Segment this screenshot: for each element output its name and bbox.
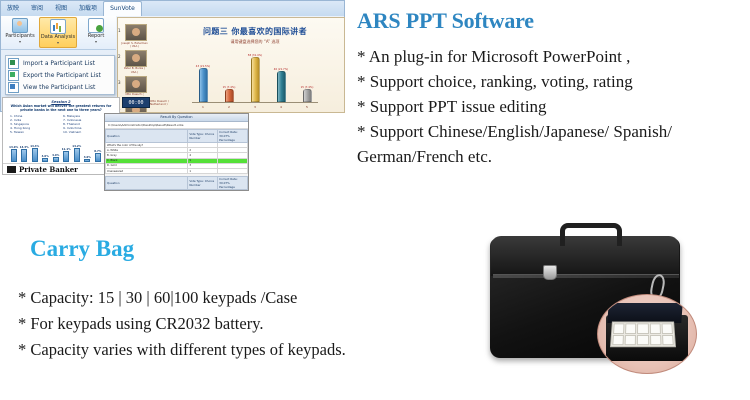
carry-bag-photo (455, 212, 745, 397)
bar (11, 149, 17, 162)
product-feature-sheet: 放映 审阅 视图 加载项 SunVote Participants ▾ Data… (0, 0, 750, 400)
results-spreadsheet-window: Result By Question C:\Users\Administrato… (104, 113, 249, 191)
pb-heading-block: Session 2 Which Asian market will delive… (3, 100, 119, 112)
bar-column: 15 (7.4%) (221, 86, 237, 103)
tray-cell (613, 323, 625, 333)
bar-series: 43 (21.5%) 15 (7.4%) 58 (31.4%) 40 (190, 48, 320, 102)
option-column-left: 1. China 2. India 3. Singapore 4. Hong K… (10, 114, 59, 134)
bullet-item: * Capacity: 15 | 30 | 60|100 keypads /Ca… (18, 285, 438, 311)
bag-zipper-line (493, 274, 679, 278)
candidate-photo (125, 50, 147, 67)
tray-cell (650, 334, 662, 345)
menu-item-export-participant-list[interactable]: Export the Participant List (6, 69, 114, 81)
column-header-correct-rate: Correct Rate: 30.07% Percentage (218, 177, 248, 190)
menu-item-import-participant-list[interactable]: Import a Participant List (6, 57, 114, 69)
bar-data-label: 8.7% (93, 150, 102, 153)
bullet-item: * Support Chinese/English/Japanese/ Span… (357, 119, 747, 169)
carry-bag-bullets: * Capacity: 15 | 30 | 60|100 keypads /Ca… (18, 285, 438, 363)
bar-column: 4.0% (41, 155, 50, 162)
tick-label: 2 (221, 105, 237, 109)
tick-label: 5 (299, 105, 315, 109)
candidate-name: Peter B. Burke ( USA ) (121, 67, 148, 73)
column-header-vote-type: Vote Type: Choice Number (188, 130, 218, 143)
private-banker-results-slide: Session 2 Which Asian market will delive… (2, 97, 120, 175)
bar-column: 43 (21.5%) (195, 65, 211, 103)
bar-column: 11.1% (62, 148, 71, 162)
bar-data-label: 3.0% (83, 156, 92, 159)
bullet-item: * An plug-in for Microsoft PowerPoint , (357, 44, 747, 69)
tray-cell (661, 323, 673, 333)
bar-column: 14.4% (30, 145, 39, 162)
bar (251, 57, 260, 102)
bar-data-label: 4.0% (41, 155, 50, 158)
bar-column: 58 (31.4%) (247, 54, 263, 103)
tray-cell (649, 323, 660, 333)
ars-ppt-software-bullets: * An plug-in for Microsoft PowerPoint , … (357, 44, 747, 169)
candidate-number: 2 (118, 54, 121, 59)
tray-cell (612, 334, 624, 345)
bar-data-label: 15 (7.4%) (299, 86, 315, 89)
column-header-vote-type: Vote Type: Choice Number (188, 177, 218, 190)
menu-item-label: Import a Participant List (23, 60, 95, 67)
window-title: Result By Question (105, 114, 248, 122)
bar-data-label: 14.4% (30, 145, 39, 148)
ribbon-button-group: Participants ▾ Data Analysis ▾ Report ▾ (1, 16, 116, 50)
bag-interior-inset (597, 294, 697, 374)
tick-label: 4 (273, 105, 289, 109)
slide-title-text: 问题三 你最喜欢的国际讲者 (180, 26, 330, 37)
bar (95, 153, 101, 162)
bar (53, 157, 59, 162)
question-heading: What's the size of the sun? (106, 190, 188, 191)
candidate-item: 2 Peter B. Burke ( USA ) (121, 50, 148, 74)
bag-handle (560, 223, 622, 246)
bar-data-label: 13.3% (20, 146, 29, 149)
tray-cell (625, 334, 637, 345)
report-button[interactable]: Report ▾ (77, 17, 115, 48)
speaker-vote-bar-chart: 43 (21.5%) 15 (7.4%) 58 (31.4%) 40 (190, 47, 320, 109)
bar (277, 71, 286, 102)
candidate-name: Otto Dassch ( Netherland ) (150, 100, 180, 106)
ribbon-tab-review[interactable]: 审阅 (25, 2, 49, 16)
carry-bag-heading: Carry Bag (30, 236, 134, 262)
tray-cell (637, 323, 648, 333)
table-row: Unanswered 1 (106, 168, 248, 173)
bar-column: 3.0% (83, 156, 92, 162)
participants-dropdown-menu[interactable]: Import a Participant List Export the Par… (5, 55, 115, 95)
private-banker-bar-chart: 13.0% 13.3% 14.4% 4.0% 4.9% (9, 140, 113, 162)
bar (21, 149, 27, 162)
speaker-vote-slide: 问题三 你最喜欢的国际讲者 请用键盘选择您的 “A” 选项 1 Joseph S… (117, 17, 345, 113)
bar (63, 151, 69, 162)
inset-bag-lid (607, 303, 682, 323)
column-header-correct-rate: Correct Rate: 30.07% Percentage (218, 130, 248, 143)
bar (32, 148, 38, 162)
menu-item-view-participant-list[interactable]: View the Participant List (6, 81, 114, 93)
tray-cell (637, 334, 648, 345)
tray-cell (662, 334, 674, 345)
column-header-question: Question (106, 130, 188, 143)
bar (225, 89, 234, 102)
menu-item-label: View the Participant List (23, 84, 95, 91)
bar-data-label: 58 (31.4%) (247, 54, 263, 57)
report-icon (88, 18, 104, 33)
bar-column: 40 (21.7%) (273, 68, 289, 103)
view-list-icon (8, 82, 19, 93)
keypad-tray (610, 322, 676, 348)
private-banker-footer: Private Banker (3, 163, 119, 174)
bar-column: 15 (7.4%) (299, 86, 315, 103)
bullet-item: * Support PPT issue editing (357, 94, 747, 119)
bar-column: 14.2% (72, 145, 81, 162)
tick-label: 3 (247, 105, 263, 109)
menu-item-label: Export the Participant List (23, 72, 101, 79)
column-header-question: Question (106, 177, 188, 190)
bar-data-label: 13.0% (9, 146, 18, 149)
bar-column: 13.3% (20, 146, 29, 162)
bar-data-label: 40 (21.7%) (273, 68, 289, 71)
bar-data-label: 43 (21.5%) (195, 65, 211, 68)
ribbon-tab-view[interactable]: 视图 (49, 2, 73, 16)
slide-subtitle-text: 请用键盘选择您的 “A” 选项 (180, 39, 330, 45)
bar (74, 148, 80, 162)
cell (188, 190, 218, 191)
results-table-1: Question Vote Type: Choice Number Correc… (105, 129, 248, 174)
chart-tick-labels: 1 2 3 4 5 (190, 105, 320, 109)
powerpoint-ribbon-window: 放映 审阅 视图 加载项 SunVote Participants ▾ Data… (0, 0, 345, 112)
ribbon-tab-bar[interactable]: 放映 审阅 视图 加载项 SunVote (1, 1, 344, 16)
brand-name: Private Banker (19, 165, 78, 174)
ribbon-tab-slideshow[interactable]: 放映 (1, 2, 25, 16)
tick-label: 1 (195, 105, 211, 109)
bar (199, 68, 208, 102)
private-banker-logo-icon (7, 166, 16, 173)
people-icon (12, 18, 28, 33)
option-label: Unanswered (106, 168, 188, 173)
bullet-item: * Support choice, ranking, voting, ratin… (357, 69, 747, 94)
question-text: Which Asian market will deliver the grea… (3, 104, 119, 112)
option-item: 5. Taiwan (10, 130, 59, 134)
chevron-down-icon[interactable]: ▾ (19, 40, 21, 44)
chevron-down-icon[interactable]: ▾ (57, 41, 59, 45)
tray-cell (625, 323, 636, 333)
chart-icon (50, 19, 66, 34)
ars-ppt-software-heading: ARS PPT Software (357, 8, 534, 34)
table-row: What's the size of the sun? (106, 190, 248, 191)
export-list-icon (8, 70, 19, 81)
chart-axis-line (192, 102, 318, 103)
bar-data-label: 15 (7.4%) (221, 86, 237, 89)
bar (303, 89, 312, 102)
zipper-pull-icon (543, 265, 557, 280)
candidate-photo (125, 24, 147, 41)
bar-column: 13.0% (9, 146, 18, 162)
bar (42, 158, 48, 162)
import-list-icon (8, 58, 19, 69)
bullet-item: * For keypads using CR2032 battery. (18, 311, 438, 337)
ppt-software-screenshot-collage: 放映 审阅 视图 加载项 SunVote Participants ▾ Data… (0, 0, 345, 195)
participants-button[interactable]: Participants ▾ (1, 17, 39, 48)
cell (218, 168, 248, 173)
bar (84, 159, 90, 162)
countdown-timer: 00:00 (122, 97, 150, 108)
table-header-row: Question Vote Type: Choice Number Correc… (106, 177, 248, 190)
ribbon-tab-addins[interactable]: 加载项 (73, 2, 103, 16)
candidate-number: 1 (118, 28, 121, 33)
candidate-name: Joseph S. Eshelman ( USA ) (121, 42, 148, 48)
candidate-number: 3 (118, 80, 121, 85)
option-count: 1 (188, 168, 218, 173)
ribbon-tab-sunvote[interactable]: SunVote (103, 1, 142, 16)
cell (218, 190, 248, 191)
table-header-row: Question Vote Type: Choice Number Correc… (106, 130, 248, 143)
chevron-down-icon[interactable]: ▾ (95, 40, 97, 44)
bar-column: 8.7% (93, 150, 102, 162)
bar-data-label: 14.2% (72, 145, 81, 148)
data-analysis-button[interactable]: Data Analysis ▾ (39, 17, 77, 48)
bar-data-label: 4.9% (51, 154, 60, 157)
option-lists: 1. China 2. India 3. Singapore 4. Hong K… (3, 112, 119, 134)
slide-title-block: 问题三 你最喜欢的国际讲者 请用键盘选择您的 “A” 选项 (180, 26, 330, 45)
bar-data-label: 11.1% (62, 148, 71, 151)
candidate-item: 1 Joseph S. Eshelman ( USA ) (121, 24, 148, 48)
candidate-photo (125, 76, 147, 93)
bar-column: 4.9% (51, 154, 60, 162)
bullet-item: * Capacity varies with different types o… (18, 337, 438, 363)
file-path: C:\Users\Administrator\Desktop\Result\Re… (105, 122, 248, 129)
results-table-2: Question Vote Type: Choice Number Correc… (105, 176, 248, 191)
